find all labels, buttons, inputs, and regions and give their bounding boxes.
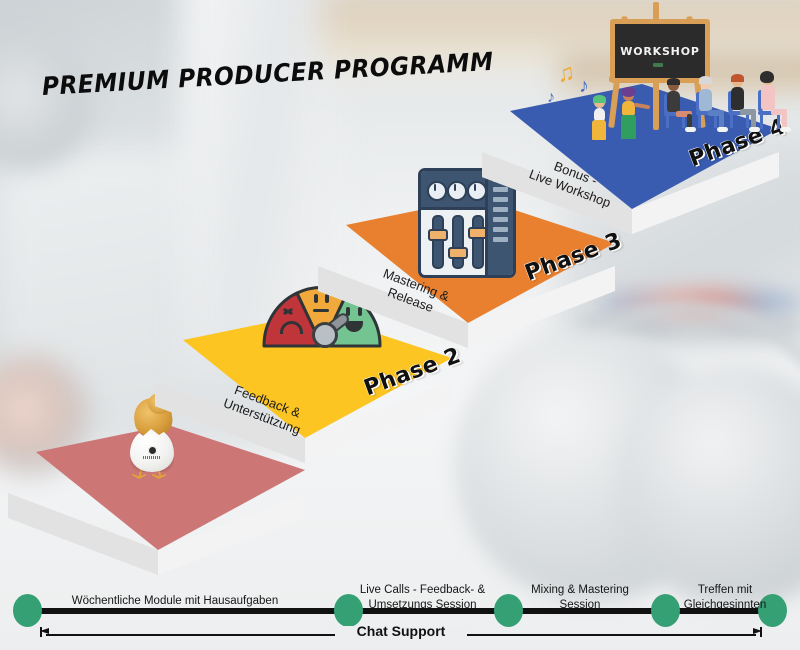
infographic-canvas: PREMIUM PRODUCER PROGRAMM Ableton Grundl… <box>0 0 800 650</box>
dancer-1-hair <box>593 95 606 103</box>
attendee-2-chair-leg-a <box>698 114 701 128</box>
attendee-4-chair-leg-a <box>760 114 763 129</box>
dancer-2-arm <box>634 103 650 110</box>
mixer-knob-1 <box>427 181 447 201</box>
music-note-icon-2: ♪ <box>579 76 589 96</box>
live-workshop-icon: WORKSHOP ♫ ♪ ♪ <box>545 2 800 142</box>
attendee-1 <box>663 80 693 130</box>
attendee-3-chair-leg-b <box>746 114 749 128</box>
dancer-2-hair <box>621 87 636 97</box>
attendee-3-chair-leg-a <box>730 114 733 128</box>
attendee-2 <box>695 78 725 130</box>
attendee-2-torso <box>699 89 712 111</box>
chalk-icon <box>653 63 663 67</box>
attendee-1-torso <box>667 91 680 112</box>
dancer-1-legs <box>592 120 606 140</box>
angry-eye-icon <box>283 306 293 316</box>
mixer-fader-track-2 <box>452 215 464 269</box>
attendee-4-shoe <box>780 127 791 132</box>
attendee-3-shin <box>751 113 756 128</box>
mixer-fader-cap-2 <box>448 247 468 259</box>
music-note-icon-1: ♫ <box>555 61 576 87</box>
dancer-1 <box>589 97 615 142</box>
mixer-fader-cap-1 <box>428 229 448 241</box>
attendee-4 <box>757 74 789 130</box>
attendee-3-hair <box>731 74 744 82</box>
attendee-2-shin <box>719 113 724 128</box>
attendee-3 <box>727 76 757 130</box>
attendee-1-shin <box>687 114 692 128</box>
attendee-1-hair <box>667 78 680 85</box>
mixer-knob-panel <box>421 171 488 210</box>
attendee-2-hair <box>699 76 712 84</box>
attendee-4-chair-leg-b <box>777 114 780 129</box>
attendee-4-hair <box>760 71 774 83</box>
mixer-fader-track-1 <box>432 215 444 269</box>
workshop-board-text: WORKSHOP <box>620 45 699 58</box>
attendee-3-torso <box>731 87 744 110</box>
attendee-2-chair-leg-b <box>714 114 717 128</box>
mixer-knob-2 <box>447 181 467 201</box>
workshop-blackboard: WORKSHOP <box>610 19 710 83</box>
attendee-1-chair-leg-a <box>666 115 669 128</box>
attendee-4-torso <box>761 85 775 110</box>
attendee-4-shin <box>782 113 787 128</box>
dancer-2-legs <box>621 115 636 139</box>
dancer-2-torso <box>622 101 635 116</box>
meter-bar <box>493 237 508 242</box>
dancer-2 <box>617 90 647 142</box>
staircase-diagram: Ableton Grundlagen erlernen Phase 1 <box>0 0 800 650</box>
music-note-icon-3: ♪ <box>547 90 555 106</box>
